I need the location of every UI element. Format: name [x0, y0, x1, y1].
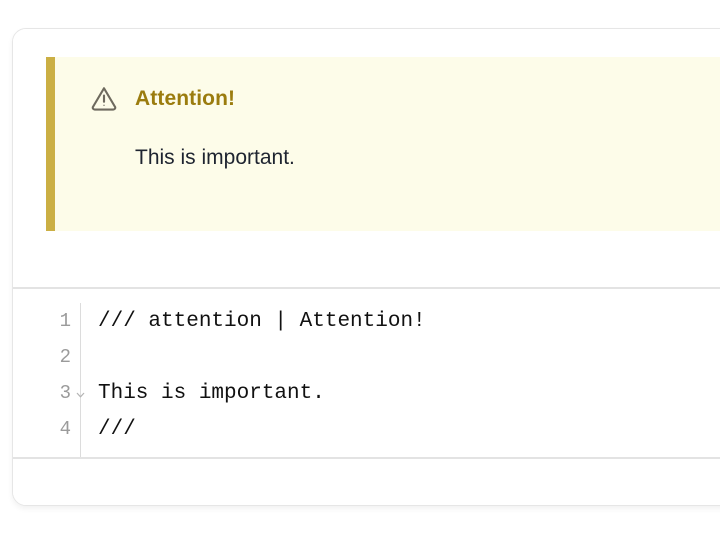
callout-title: Attention! — [135, 88, 235, 109]
callout-body: Attention! This is important. — [55, 57, 720, 231]
callout-accent-bar — [46, 57, 55, 231]
rendered-preview-region: Attention! This is important. — [13, 29, 720, 287]
gutter-line: 2 — [13, 339, 80, 375]
line-number: 2 — [60, 348, 71, 367]
attention-callout: Attention! This is important. — [46, 57, 720, 231]
chevron-down-icon[interactable] — [75, 388, 86, 399]
code-editor[interactable]: 1 2 3 4 /// atten — [13, 289, 720, 457]
callout-title-row: Attention! — [55, 83, 720, 113]
code-content-area[interactable]: /// attention | Attention! This is impor… — [81, 303, 720, 457]
preview-card: Attention! This is important. 1 2 3 — [12, 28, 720, 506]
gutter-line: 3 — [13, 375, 80, 411]
line-number: 4 — [60, 420, 71, 439]
gutter-line: 1 — [13, 303, 80, 339]
warning-triangle-icon — [89, 83, 119, 113]
line-number: 3 — [60, 384, 71, 403]
gutter-line: 4 — [13, 411, 80, 447]
code-line[interactable] — [98, 339, 720, 375]
code-line[interactable]: /// attention | Attention! — [98, 303, 720, 339]
callout-text: This is important. — [55, 145, 720, 171]
page-root: Attention! This is important. 1 2 3 — [0, 0, 720, 544]
code-line[interactable]: /// — [98, 411, 720, 447]
card-footer-strip — [13, 459, 720, 506]
line-number: 1 — [60, 312, 71, 331]
code-line[interactable]: This is important. — [98, 375, 720, 411]
line-number-gutter: 1 2 3 4 — [13, 303, 81, 457]
